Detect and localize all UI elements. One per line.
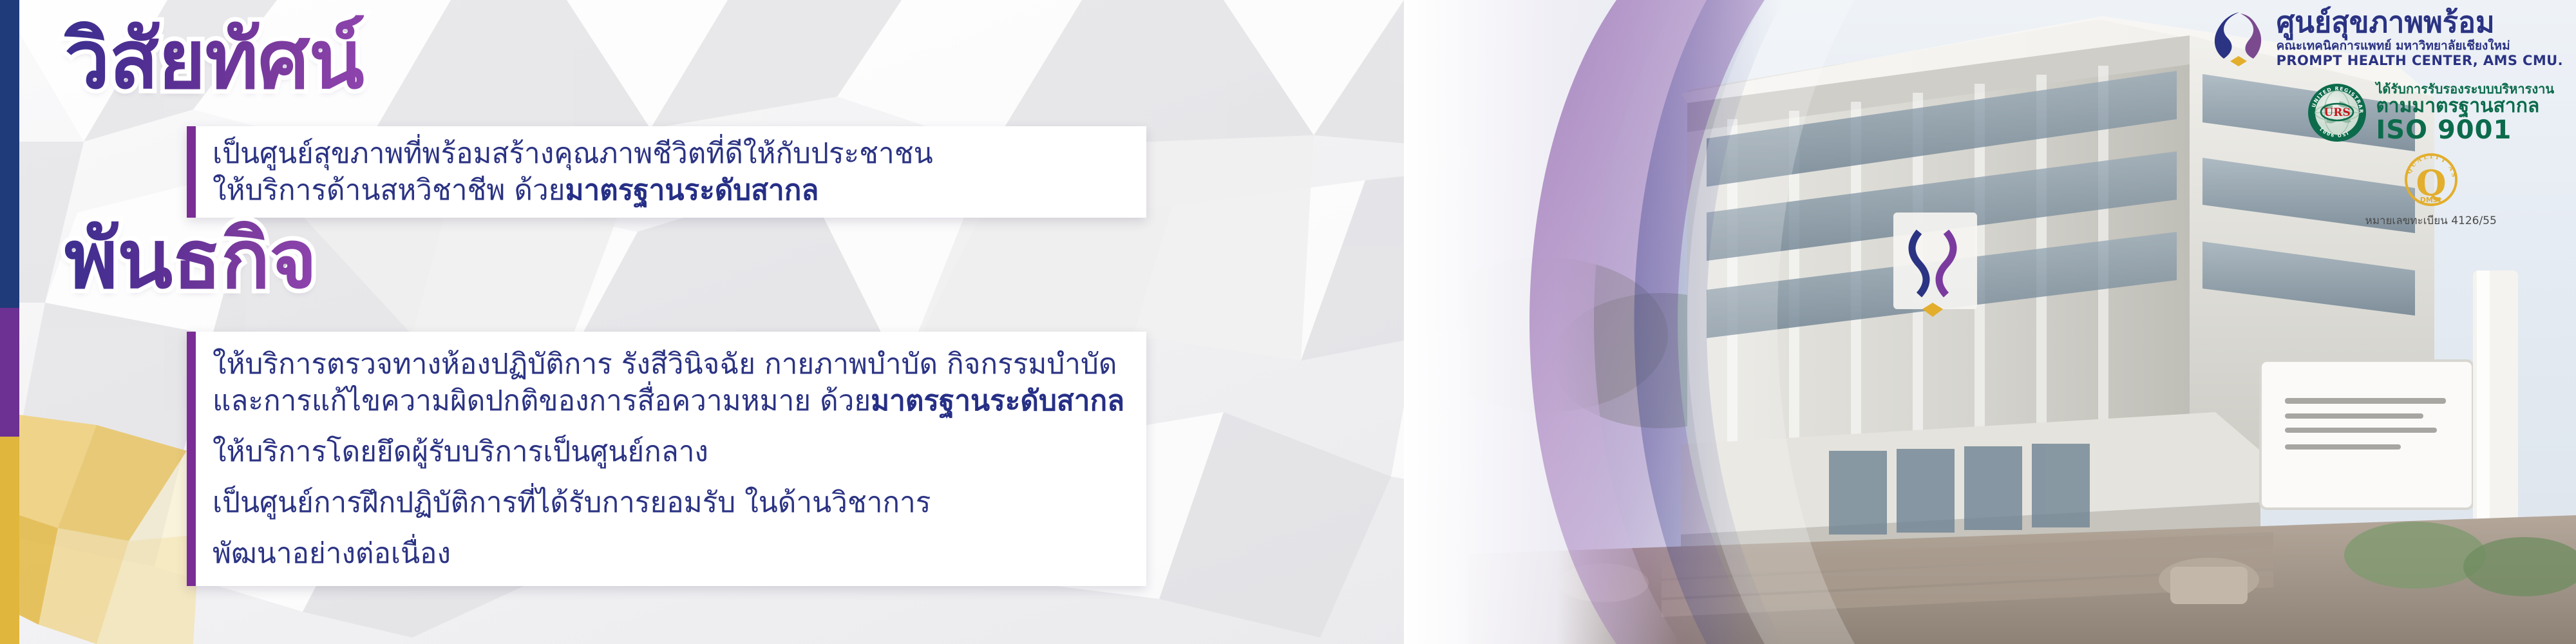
vision-line-2-bold: มาตรฐานระดับสากล [565,174,819,207]
logo-text-block: ศูนย์สุขภาพพร้อม คณะเทคนิคการแพทย์ มหาวิ… [2277,8,2563,68]
urs-iso-seal-icon: UNITED REGISTRAR OF SYSTEMS ISO 9001 URS [2307,83,2367,142]
vision-heading: วิสัยทัศน์ วิสัยทัศน์ [64,19,364,100]
mission-card: ให้บริการตรวจทางห้องปฏิบัติการ รังสีวินิ… [187,332,1146,586]
logo-title-th: ศูนย์สุขภาพพร้อม [2277,8,2563,37]
mission-item-1-line-2-plain: และการแก้ไขความผิดปกติของการสื่อความหมาย… [213,384,871,417]
gold-polygon-decoration [0,412,213,644]
iso-line-2: ตามมาตรฐานสากล [2376,97,2554,117]
mission-item-2-line-1: ให้บริการโดยยึดผู้รับบริการเป็นศูนย์กลาง [213,433,1124,470]
iso-certification-row: UNITED REGISTRAR OF SYSTEMS ISO 9001 URS… [2307,82,2554,144]
svg-text:DMSc: DMSc [2420,196,2442,204]
iso-line-1: ได้รับการรับรองระบบบริหารงาน [2376,82,2554,95]
vision-card-accent-bar [187,126,196,218]
vision-card-body: เป็นศูนย์สุขภาพที่พร้อมสร้างคุณภาพชีวิตท… [196,126,952,218]
mission-item-4-line-1: พัฒนาอย่างต่อเนื่อง [213,535,1124,572]
vision-line-2-plain: ให้บริการด้านสหวิชาชีพ ด้วย [213,174,565,207]
mission-item-1-line-1-plain: ให้บริการตรวจทางห้องปฏิบัติการ รังสีวินิ… [213,348,1117,381]
mission-item-1: ให้บริการตรวจทางห้องปฏิบัติการ รังสีวินิ… [213,346,1124,419]
quality-assurance-q-mark-icon: QUALITY ASSURANCE Q DMSc [2400,149,2462,211]
vision-mission-banner: วิสัยทัศน์ วิสัยทัศน์ เป็นศูนย์สุขภาพที่… [0,0,2576,644]
svg-text:URS: URS [2324,106,2351,119]
iso-line-3: ISO 9001 [2376,117,2554,144]
vision-heading-text: วิสัยทัศน์ [64,12,364,107]
mission-card-body: ให้บริการตรวจทางห้องปฏิบัติการ รังสีวินิ… [196,332,1144,586]
logo-title-en: PROMPT HEALTH CENTER, AMS CMU. [2277,54,2563,68]
edge-bar-gold-segment [0,437,19,644]
left-edge-color-bar [0,0,19,644]
mission-card-accent-bar [187,332,196,586]
iso-text-block: ได้รับการรับรองระบบบริหารงาน ตามมาตรฐานส… [2376,82,2554,144]
mission-heading-text: พันธกิจ [64,212,316,307]
prompt-health-center-logo: ศูนย์สุขภาพพร้อม คณะเทคนิคการแพทย์ มหาวิ… [2211,8,2563,68]
certification-block: UNITED REGISTRAR OF SYSTEMS ISO 9001 URS… [2307,82,2554,229]
logo-subtitle-th: คณะเทคนิคการแพทย์ มหาวิทยาลัยเชียงใหม่ [2277,40,2563,52]
mission-item-3-line-1-plain: เป็นศูนย์การฝึกปฏิบัติการที่ได้รับการยอม… [213,486,931,519]
vision-card: เป็นศูนย์สุขภาพที่พร้อมสร้างคุณภาพชีวิตท… [187,126,1146,218]
edge-bar-purple-segment [0,308,19,437]
mission-item-4: พัฒนาอย่างต่อเนื่อง [213,535,1124,572]
edge-bar-navy-segment [0,0,19,308]
mission-item-3-line-1: เป็นศูนย์การฝึกปฏิบัติการที่ได้รับการยอม… [213,484,1124,521]
mission-heading: พันธกิจ พันธกิจ [64,219,316,300]
mission-item-2: ให้บริการโดยยึดผู้รับบริการเป็นศูนย์กลาง [213,433,1124,470]
mission-item-4-line-1-plain: พัฒนาอย่างต่อเนื่อง [213,537,451,570]
prompt-health-center-logo-icon [2211,8,2266,68]
mission-item-1-line-2-bold: มาตรฐานระดับสากล [871,384,1124,417]
vision-line-1: เป็นศูนย์สุขภาพที่พร้อมสร้างคุณภาพชีวิตท… [213,135,933,172]
mission-item-2-line-1-plain: ให้บริการโดยยึดผู้รับบริการเป็นศูนย์กลาง [213,435,708,468]
vision-line-1-plain: เป็นศูนย์สุขภาพที่พร้อมสร้างคุณภาพชีวิตท… [213,137,933,170]
mission-item-1-line-2: และการแก้ไขความผิดปกติของการสื่อความหมาย… [213,383,1124,419]
vision-line-2: ให้บริการด้านสหวิชาชีพ ด้วยมาตรฐานระดับส… [213,172,933,209]
mission-item-1-line-1: ให้บริการตรวจทางห้องปฏิบัติการ รังสีวินิ… [213,346,1124,383]
mission-item-3: เป็นศูนย์การฝึกปฏิบัติการที่ได้รับการยอม… [213,484,1124,521]
registration-number: หมายเลขทะเบียน 4126/55 [2365,212,2497,229]
